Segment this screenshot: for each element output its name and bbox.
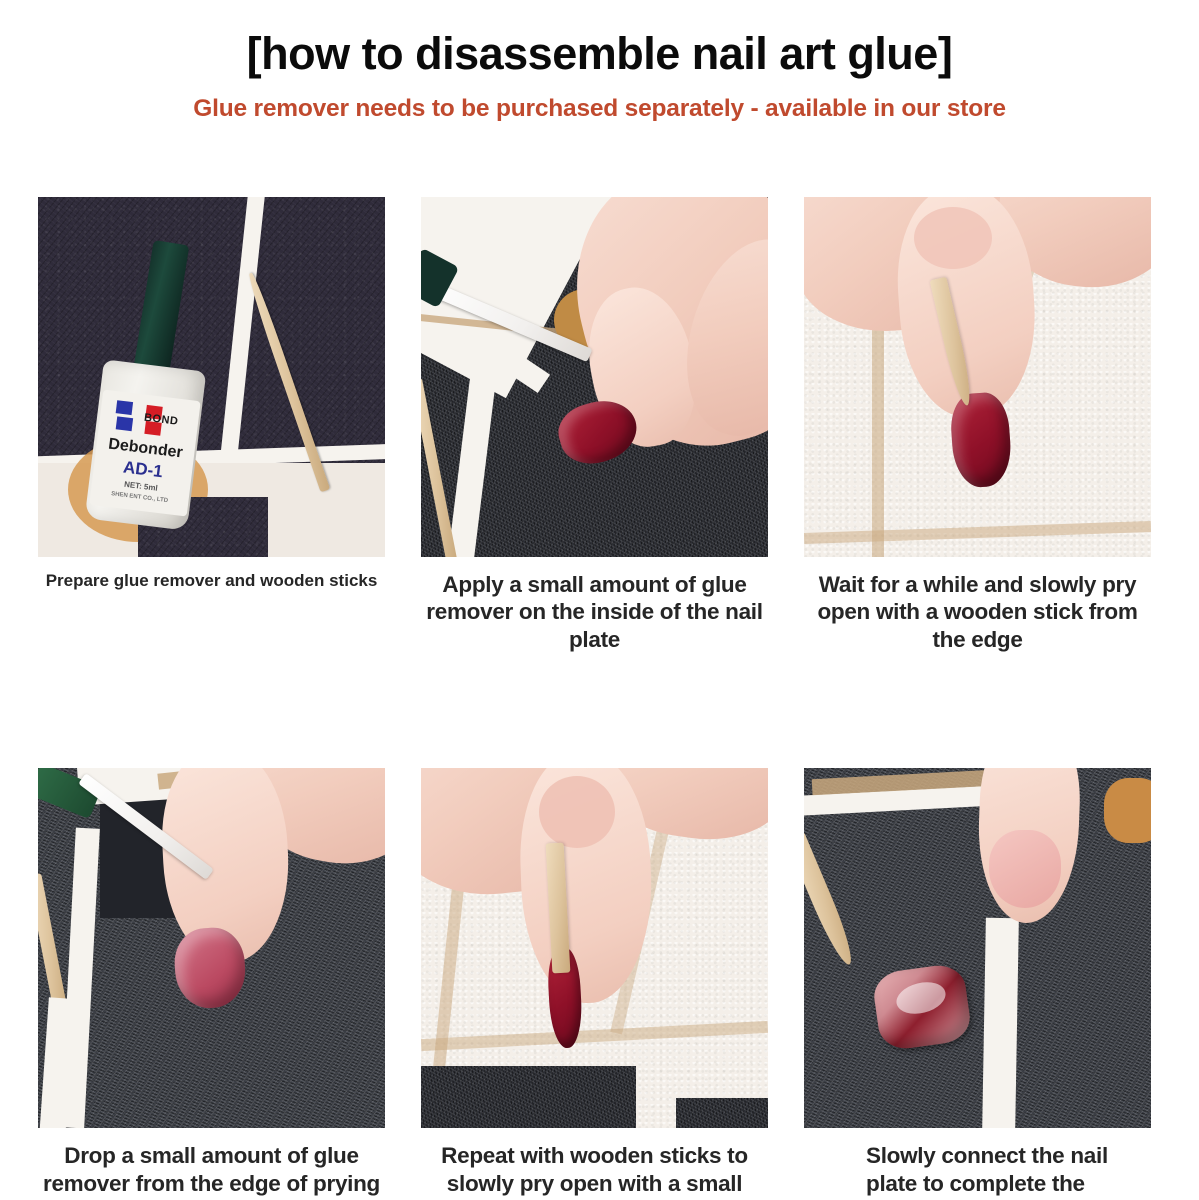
step-card-6: Slowly connect the nail plate to complet…	[804, 768, 1151, 1200]
header: [how to disassemble nail art glue] Glue …	[0, 0, 1199, 123]
step-card-1: BOND Debonder AD-1 NET: 5ml SHEN ENT CO.…	[38, 197, 385, 653]
page-title: [how to disassemble nail art glue]	[0, 30, 1199, 77]
step-card-4: Drop a small amount of glue remover from…	[38, 768, 385, 1200]
step-photo-3	[804, 197, 1151, 557]
step-caption-6: Slowly connect the nail plate to complet…	[804, 1142, 1151, 1200]
step-card-2: Apply a small amount of glue remover on …	[421, 197, 768, 653]
step-caption-2: Apply a small amount of glue remover on …	[421, 571, 768, 653]
step-photo-6	[804, 768, 1151, 1128]
step-photo-1: BOND Debonder AD-1 NET: 5ml SHEN ENT CO.…	[38, 197, 385, 557]
thumb-nail-5	[539, 776, 615, 848]
steps-grid: BOND Debonder AD-1 NET: 5ml SHEN ENT CO.…	[38, 197, 1162, 1200]
step-photo-2	[421, 197, 768, 557]
step-card-3: Wait for a while and slowly pry open wit…	[804, 197, 1151, 653]
step-photo-4	[38, 768, 385, 1128]
bare-nail-6	[989, 830, 1061, 908]
mat-background-6	[804, 768, 1151, 1128]
thumb-nail-3	[914, 207, 992, 269]
mat-tan-patch-6	[1104, 778, 1151, 843]
page-subtitle: Glue remover needs to be purchased separ…	[0, 96, 1199, 123]
step-caption-1: Prepare glue remover and wooden sticks	[38, 571, 385, 592]
step-caption-3: Wait for a while and slowly pry open wit…	[804, 571, 1151, 653]
bottle-label: BOND Debonder AD-1 NET: 5ml SHEN ENT CO.…	[89, 389, 200, 516]
step-card-5: Repeat with wooden sticks to slowly pry …	[421, 768, 768, 1200]
infographic-page: [how to disassemble nail art glue] Glue …	[0, 0, 1199, 1200]
step-photo-5	[421, 768, 768, 1128]
mat-dark-block-5b	[676, 1098, 768, 1128]
mat-dark-block-5	[421, 1066, 636, 1128]
step-caption-4: Drop a small amount of glue remover from…	[38, 1142, 385, 1200]
step-caption-5: Repeat with wooden sticks to slowly pry …	[421, 1142, 768, 1200]
mat-stripe-vertical-6	[982, 918, 1019, 1128]
